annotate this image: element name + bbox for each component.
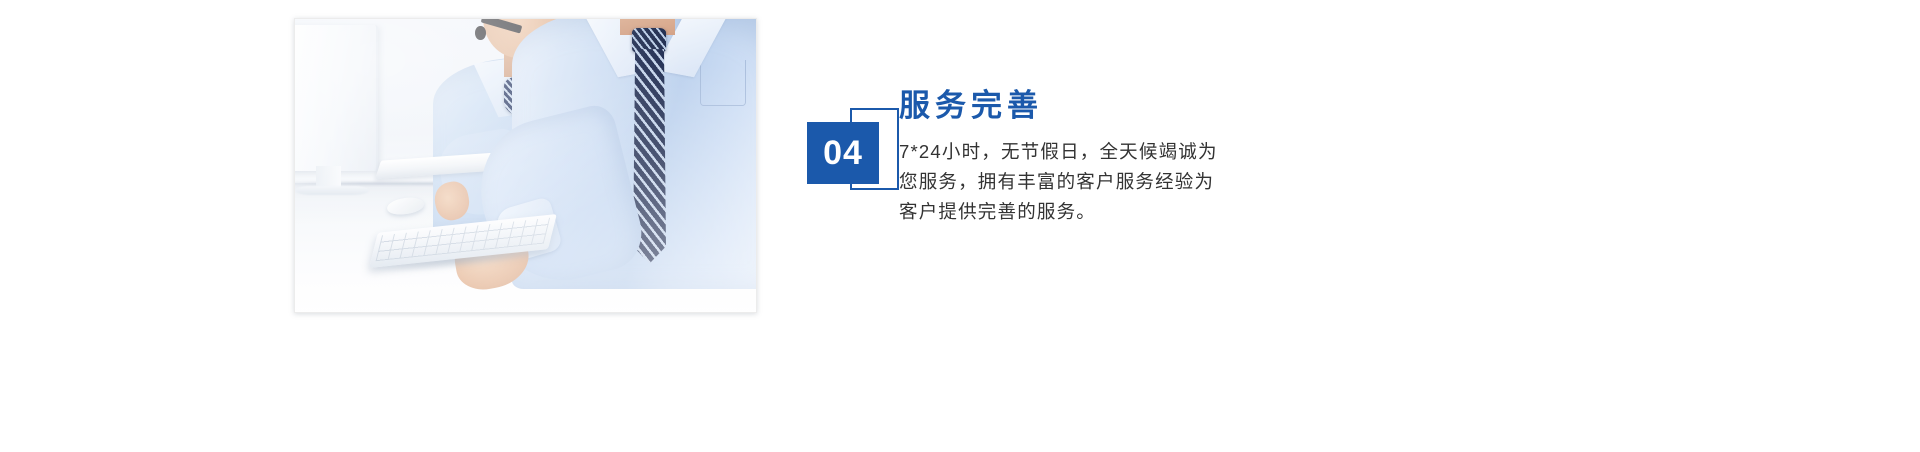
description-line: 7*24小时，无节假日，全天候竭诚为 <box>899 137 1299 167</box>
badge-filled-square: 04 <box>807 122 879 184</box>
badge-number: 04 <box>823 136 863 170</box>
description-line: 客户提供完善的服务。 <box>899 197 1299 227</box>
feature-text-column: 服务完善 7*24小时，无节假日，全天候竭诚为 您服务，拥有丰富的客户服务经验为… <box>899 88 1459 226</box>
service-feature-banner: 04 服务完善 7*24小时，无节假日，全天候竭诚为 您服务，拥有丰富的客户服务… <box>0 0 1920 452</box>
feature-description: 7*24小时，无节假日，全天候竭诚为 您服务，拥有丰富的客户服务经验为 客户提供… <box>899 137 1299 227</box>
agent-front-shirt-pocket <box>700 60 746 106</box>
feature-title: 服务完善 <box>899 88 1459 125</box>
monitor-screen <box>295 25 378 172</box>
headset-microphone-icon <box>475 26 486 41</box>
call-center-agents-photo <box>295 19 756 312</box>
feature-number-badge: 04 <box>807 108 899 208</box>
description-line: 您服务，拥有丰富的客户服务经验为 <box>899 167 1299 197</box>
monitor-stand-base <box>295 186 369 195</box>
call-center-photo-frame <box>294 18 757 313</box>
necktie-knot <box>632 28 666 53</box>
